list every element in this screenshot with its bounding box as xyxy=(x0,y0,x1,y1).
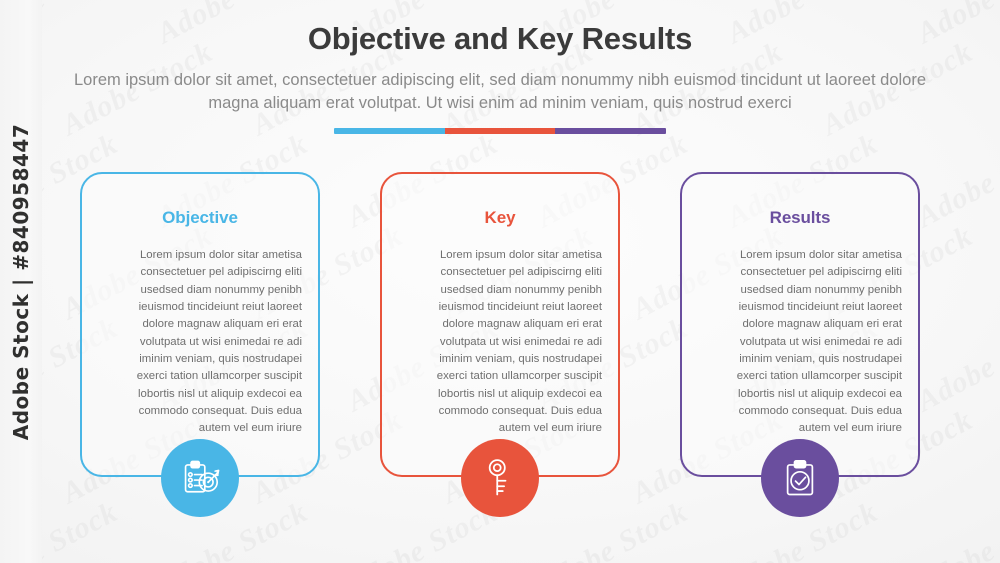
card-objective-box[interactable]: Objective Lorem ipsum dolor sitar ametis… xyxy=(80,172,320,477)
watermark-tile: Adobe Stock xyxy=(912,495,1000,563)
card-objective-title: Objective xyxy=(96,208,304,228)
card-objective: Objective Lorem ipsum dolor sitar ametis… xyxy=(80,172,320,477)
divider-segment-1 xyxy=(334,128,445,134)
card-key-body: Lorem ipsum dolor sitar ametisa consecte… xyxy=(396,247,604,438)
card-objective-body: Lorem ipsum dolor sitar ametisa consecte… xyxy=(96,247,304,438)
card-results-title: Results xyxy=(696,208,904,228)
page-title: Objective and Key Results xyxy=(0,20,1000,59)
tricolor-divider xyxy=(334,128,666,134)
page-subtitle: Lorem ipsum dolor sit amet, consectetuer… xyxy=(0,69,1000,116)
header: Objective and Key Results Lorem ipsum do… xyxy=(0,20,1000,116)
card-key-title: Key xyxy=(396,208,604,228)
watermark-label: Adobe Stock | #840958447 xyxy=(9,123,33,439)
card-results-icon-circle[interactable] xyxy=(761,439,839,517)
watermark-tile: Adobe Stock xyxy=(912,311,1000,419)
card-results-body: Lorem ipsum dolor sitar ametisa consecte… xyxy=(696,247,904,438)
card-results: Results Lorem ipsum dolor sitar ametisa … xyxy=(680,172,920,477)
card-objective-icon-circle[interactable] xyxy=(161,439,239,517)
watermark-tile: Adobe Stock xyxy=(532,495,694,563)
divider-segment-3 xyxy=(555,128,666,134)
infographic-slide: Adobe StockAdobe StockAdobe StockAdobe S… xyxy=(0,0,1000,563)
card-key-icon-circle[interactable] xyxy=(461,439,539,517)
divider-segment-2 xyxy=(445,128,556,134)
key-icon xyxy=(478,456,522,500)
clipboard-target-icon xyxy=(178,456,222,500)
watermark-sidebar: Adobe Stock | #840958447 xyxy=(0,0,42,563)
cards-row: Objective Lorem ipsum dolor sitar ametis… xyxy=(80,172,920,477)
clipboard-check-icon xyxy=(778,456,822,500)
card-results-box[interactable]: Results Lorem ipsum dolor sitar ametisa … xyxy=(680,172,920,477)
card-key: Key Lorem ipsum dolor sitar ametisa cons… xyxy=(380,172,620,477)
card-key-box[interactable]: Key Lorem ipsum dolor sitar ametisa cons… xyxy=(380,172,620,477)
watermark-tile: Adobe Stock xyxy=(912,127,1000,235)
